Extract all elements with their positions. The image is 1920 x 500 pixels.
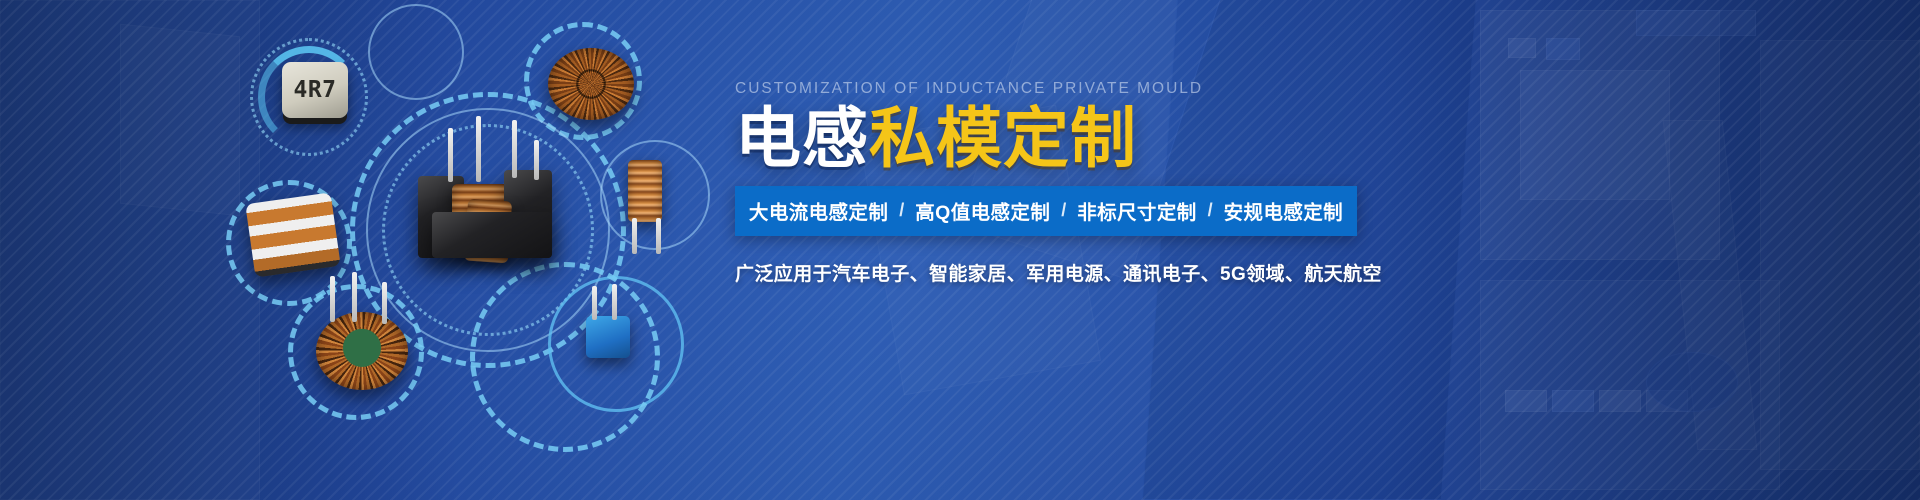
feature-item-1: 高Q值电感定制	[915, 196, 1050, 225]
banner-text-block: CUSTOMIZATION OF INDUCTANCE PRIVATE MOUL…	[735, 80, 1375, 286]
transformer-base	[432, 212, 552, 258]
feature-item-2: 非标尺寸定制	[1077, 196, 1196, 225]
feature-separator-1: /	[1050, 200, 1077, 221]
application-tagline: 广泛应用于汽车电子、智能家居、军用电源、通讯电子、5G领域、航天航空	[735, 259, 1375, 286]
feature-item-3: 安规电感定制	[1224, 196, 1343, 225]
english-subtitle: CUSTOMIZATION OF INDUCTANCE PRIVATE MOUL…	[735, 80, 1375, 98]
feature-list-bar: 大电流电感定制 / 高Q值电感定制 / 非标尺寸定制 / 安规电感定制	[735, 186, 1357, 236]
tech-ring-icon	[470, 262, 660, 452]
tech-ring-icon	[368, 4, 464, 100]
page-title: 电感私模定制	[735, 104, 1375, 174]
product-blue-radial-choke	[586, 316, 630, 358]
feature-separator-2: /	[1197, 200, 1224, 221]
product-green-toroid-inductor	[316, 312, 408, 390]
product-flat-wire-common-mode-choke	[245, 192, 340, 277]
product-smd-power-inductor: 4R7	[282, 62, 348, 118]
feature-separator-0: /	[888, 200, 915, 221]
product-toroidal-common-mode-choke	[548, 48, 634, 120]
headline-yellow-part: 私模定制	[869, 100, 1137, 177]
product-drum-core-inductor	[628, 160, 662, 222]
headline-white-part: 电感	[735, 100, 869, 177]
feature-item-0: 大电流电感定制	[749, 196, 888, 225]
smd-inductor-marking: 4R7	[293, 77, 336, 103]
promo-banner: 4R7 CUSTOMIZATION OF INDUCTANCE PRIVATE …	[0, 0, 1920, 500]
